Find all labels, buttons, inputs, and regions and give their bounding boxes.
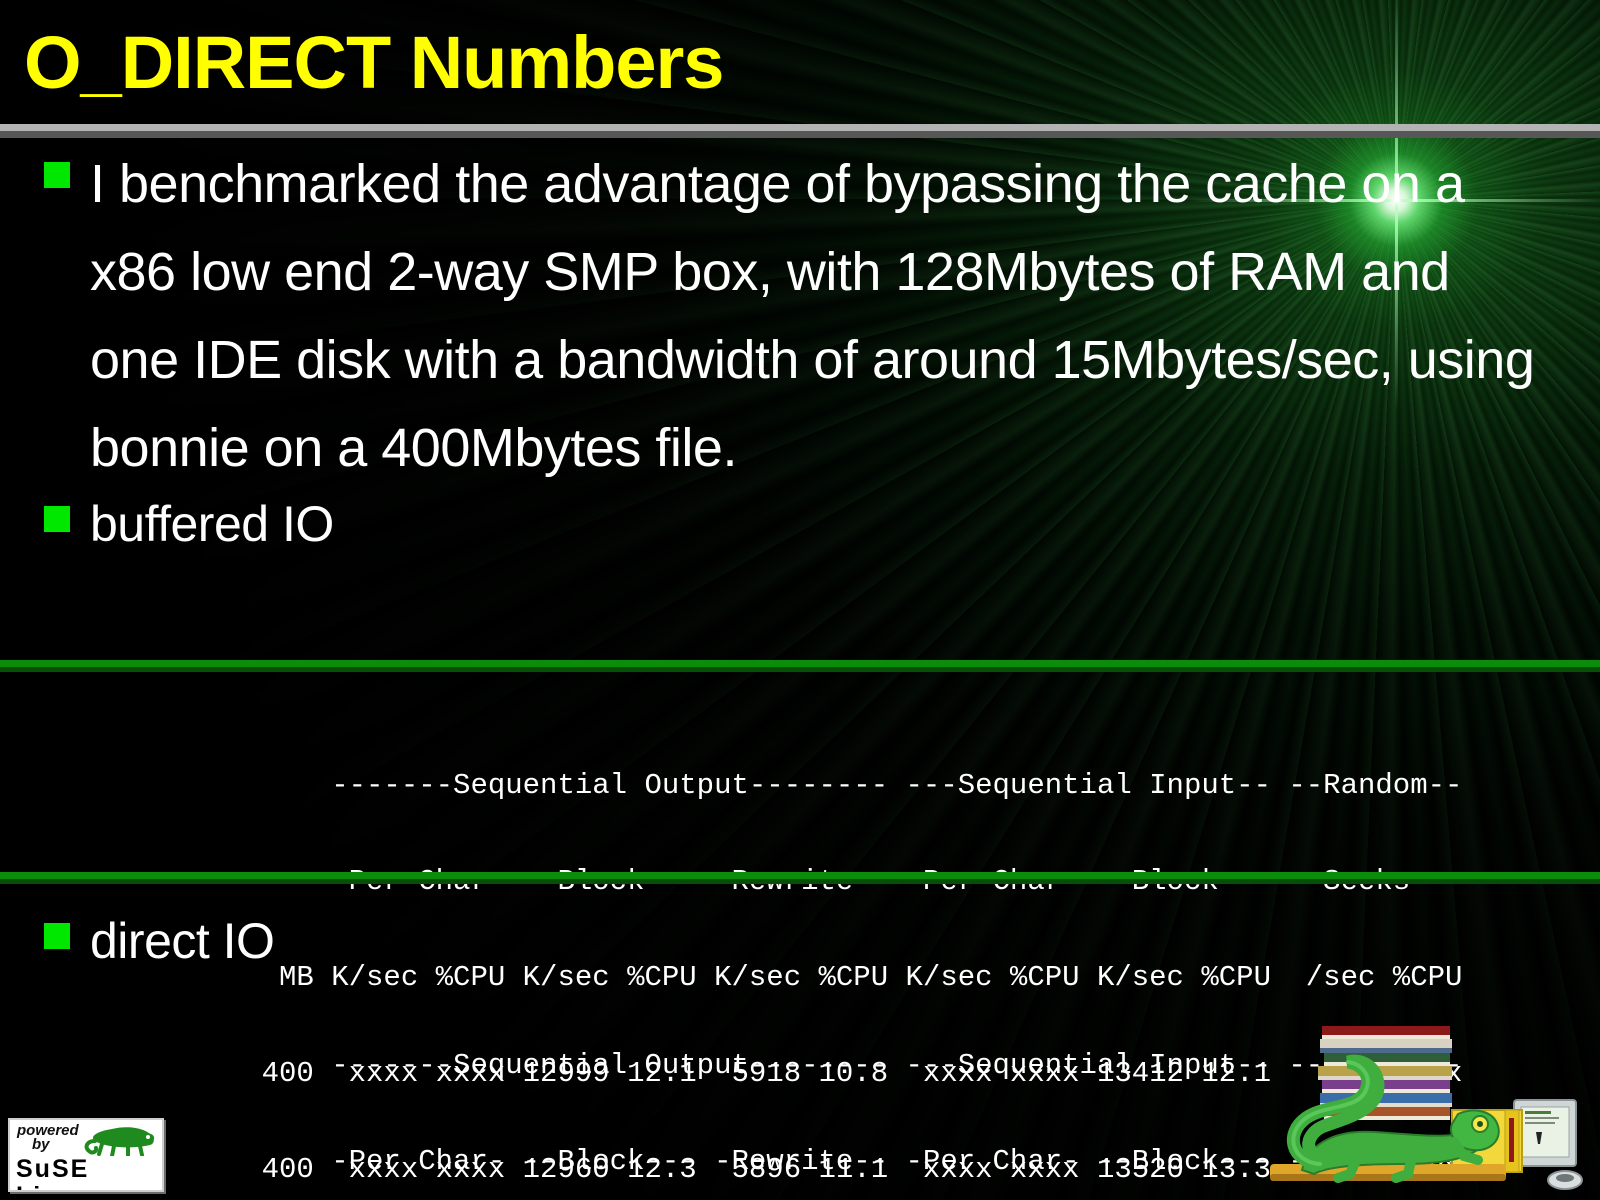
table-header-subgroups: -Per Char- --Block--- -Rewrite-- -Per Ch… — [192, 1146, 1462, 1178]
bullet-item-buffered-io-label: buffered IO — [90, 488, 334, 560]
header-divider-light-band — [0, 124, 1600, 131]
body-content: I benchmarked the advantage of bypassing… — [0, 140, 1600, 560]
suse-gecko-silhouette-icon — [82, 1124, 156, 1156]
buffered-table-top-divider — [0, 660, 1600, 672]
slide-root: O_DIRECT Numbers I benchmarked the advan… — [0, 0, 1600, 1200]
logo-suse-linux-label: SuSE Linux — [16, 1156, 162, 1192]
table-header-groups: -------Sequential Output-------- ---Sequ… — [192, 770, 1462, 802]
logo-by-label: by — [32, 1137, 50, 1152]
divider-dark-band — [0, 667, 1600, 672]
square-bullet-icon — [44, 506, 70, 532]
divider-bright-band — [0, 660, 1600, 667]
square-bullet-icon — [44, 162, 70, 188]
table-header-groups: -------Sequential Output-------- ---Sequ… — [192, 1050, 1462, 1082]
header-divider — [0, 124, 1600, 138]
direct-io-table: -------Sequential Output-------- ---Sequ… — [192, 986, 1462, 1200]
divider-bright-band — [0, 872, 1600, 879]
bullet-item-direct-io: direct IO — [0, 905, 1600, 977]
title-area: O_DIRECT Numbers — [0, 0, 1600, 120]
divider-dark-band — [0, 879, 1600, 884]
powered-by-suse-linux-logo: powered by SuSE Linux — [8, 1118, 164, 1192]
bullet-item-direct-io-label: direct IO — [90, 905, 274, 977]
header-divider-dark-band — [0, 131, 1600, 138]
bullet-item-intro-label: I benchmarked the advantage of bypassing… — [90, 140, 1540, 492]
bullet-item-buffered-io: buffered IO — [0, 488, 1600, 560]
square-bullet-icon — [44, 923, 70, 949]
bullet-item-intro: I benchmarked the advantage of bypassing… — [0, 140, 1600, 492]
buffered-table-bottom-divider — [0, 872, 1600, 884]
page-title: O_DIRECT Numbers — [24, 26, 723, 100]
